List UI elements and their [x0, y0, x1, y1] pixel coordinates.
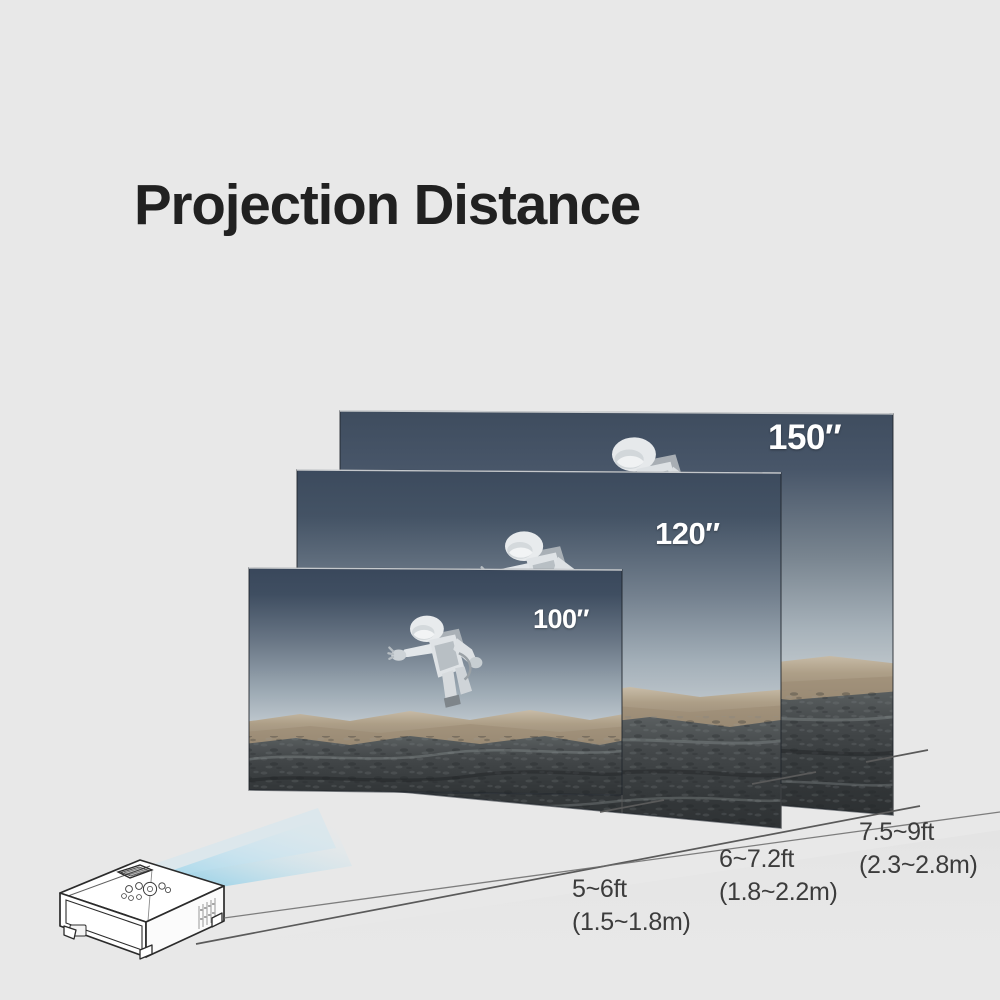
distance-label-120: 6~7.2ft (1.8~2.2m) [719, 843, 838, 909]
distance-label-150: 7.5~9ft (2.3~2.8m) [859, 816, 978, 882]
distance-feet-150: 7.5~9ft [859, 816, 978, 849]
projection-scene [0, 0, 1000, 1000]
distance-feet-100: 5~6ft [572, 873, 691, 906]
distance-label-100: 5~6ft (1.5~1.8m) [572, 873, 691, 939]
distance-meters-100: (1.5~1.8m) [572, 906, 691, 939]
distance-meters-120: (1.8~2.2m) [719, 876, 838, 909]
screen-100 [244, 562, 630, 826]
projection-distance-infographic: Projection Distance [0, 0, 1000, 1000]
distance-feet-120: 6~7.2ft [719, 843, 838, 876]
distance-meters-150: (2.3~2.8m) [859, 849, 978, 882]
